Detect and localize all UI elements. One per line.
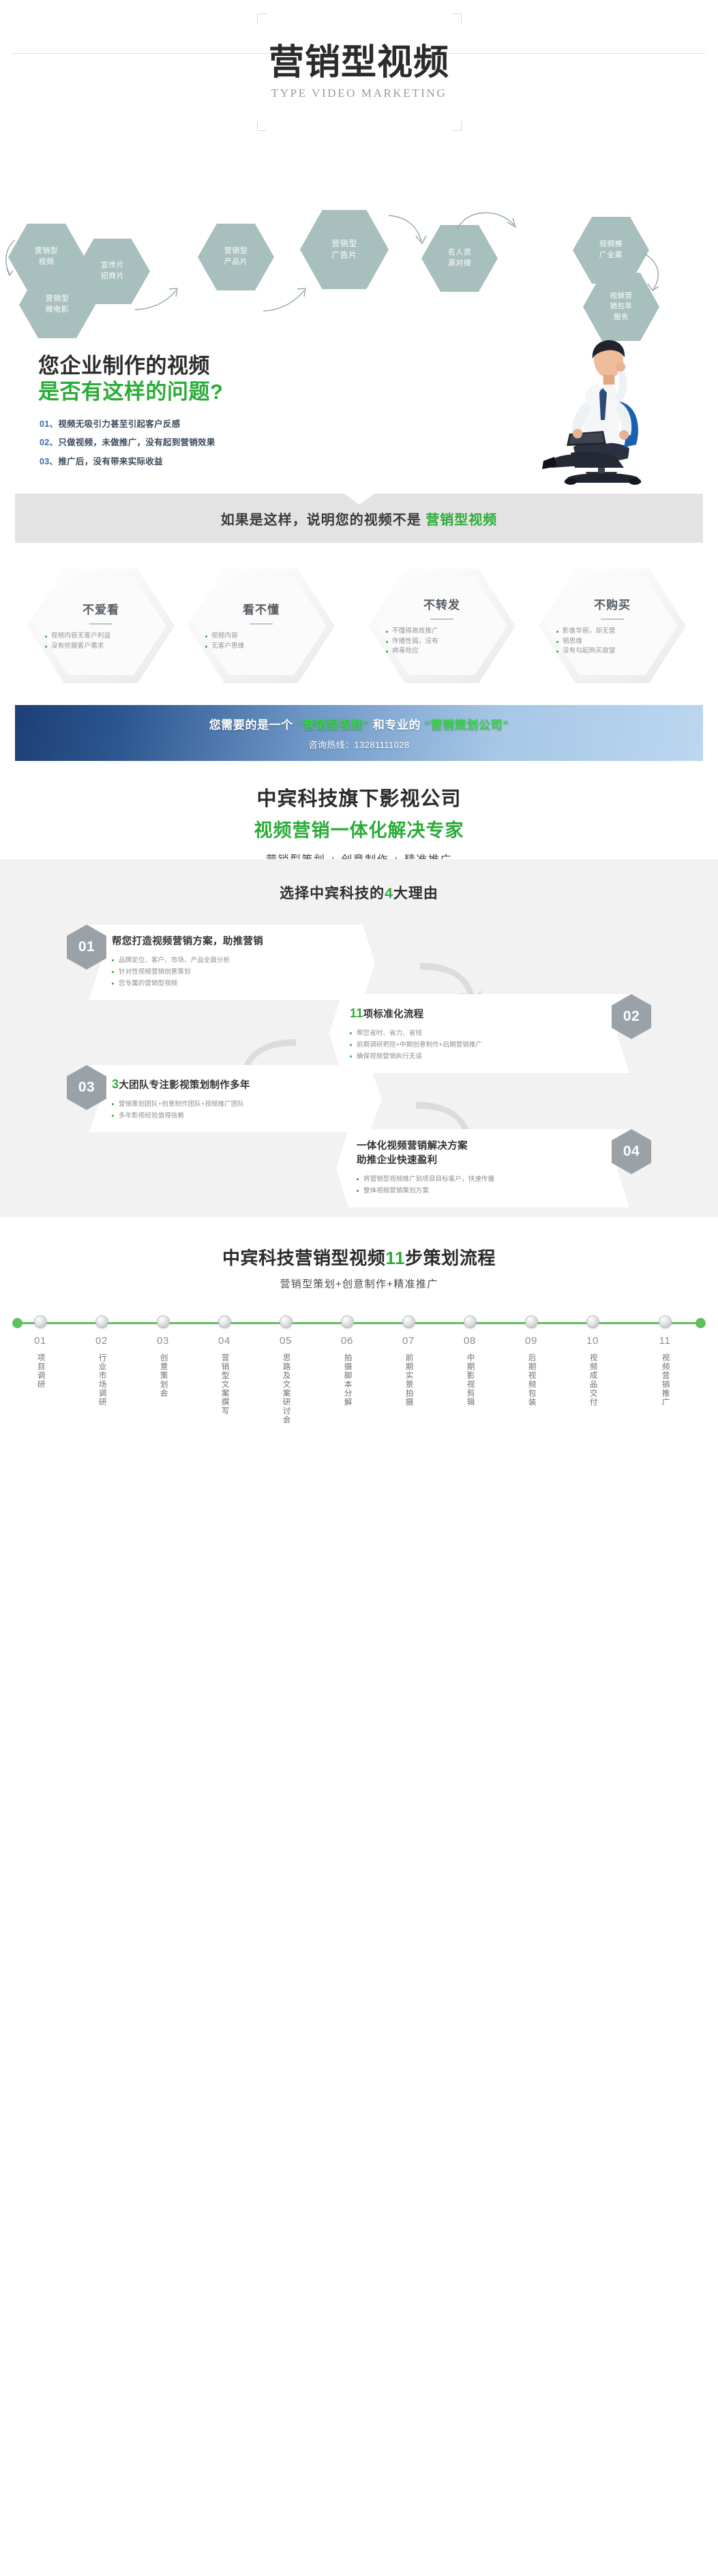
reason-title-big: 11 [350, 1006, 363, 1020]
hex-label-line2: 源对接 [448, 258, 472, 269]
reason-card-title: 帮您打造视频营销方案，助推营销 [112, 935, 360, 949]
reason-bullet: 您专属的营销型视频 [112, 978, 360, 989]
hero-rule-right [448, 53, 706, 54]
ribbon-bar: 如果是这样，说明您的视频不是 营销型视频 [15, 494, 703, 543]
timeline-step[interactable]: 02 行业市场调研 [76, 1314, 127, 1410]
problem-item-number: 02、 [40, 438, 58, 447]
timeline-step-label: 视频营销推广 [659, 1353, 670, 1407]
timeline-step-label: 后期视频包装 [525, 1353, 537, 1407]
timeline-step-number: 09 [506, 1335, 556, 1347]
problem-card-title: 不转发 [423, 595, 460, 612]
service-hex-grid: 营销型 视频 营销型 微电影 宣传片 招商片 营销型 产品片 营销型 [0, 170, 718, 341]
timeline-step-number: 06 [322, 1335, 372, 1347]
reason-bullet: 针对性视频营销创意策划 [112, 966, 360, 978]
problem-card-bullet: 不懂得高效推广 [386, 627, 498, 637]
problem-card-dont-understand[interactable]: 看不懂 视频内容 无客户思维 [188, 569, 335, 683]
hex-label-line1: 营销型 [35, 246, 59, 257]
problem-item-text: 只做视频，未做推广，没有起到营销效果 [58, 438, 215, 447]
grey-ribbon-section: 如果是这样，说明您的视频不是 营销型视频 [0, 477, 718, 559]
reason-number-text: 01 [78, 939, 95, 955]
problem-card-bullet-cont: 病毒效应 [386, 646, 498, 657]
hero-rule-left [12, 53, 270, 54]
reason-bullet: 整体视频营销策划方案 [357, 1185, 606, 1197]
hex-label-line1: 营销型 [331, 238, 357, 250]
corner-bracket-icon [452, 14, 462, 23]
hero-title-box: 营销型视频 TYPE VIDEO MARKETING [257, 14, 462, 131]
reasons-body: 01 帮您打造视频营销方案，助推营销 品牌定位、客户、市场、产品全面分析 针对性… [0, 920, 718, 1190]
timeline-title-a: 中宾科技营销型视频 [222, 1248, 385, 1268]
problem-card-dont-share[interactable]: 不转发 不懂得高效推广 传播性弱，没有 病毒效应 [368, 569, 515, 683]
corner-bracket-icon [257, 121, 267, 131]
timeline-step-label: 营销型文案撰写 [218, 1353, 230, 1416]
problem-card-bullet: 没有挖掘客户需求 [45, 642, 157, 652]
timeline-node-icon [218, 1315, 231, 1328]
problem-card-dont-watch[interactable]: 不爱看 视频内容无客户利益 没有挖掘客户需求 [27, 569, 175, 683]
reason-title-plain: 帮您打造视频营销方案，助推营销 [112, 936, 263, 947]
problem-card-title: 不购买 [594, 595, 631, 612]
hex-label-line2: 产品片 [224, 257, 248, 268]
corner-bracket-icon [257, 14, 267, 23]
reason-number-text: 02 [623, 1008, 640, 1025]
problem-card-bullet: 视频内容 [205, 631, 317, 642]
hex-label-line2: 视频 [35, 257, 59, 268]
cta-hotline[interactable]: 咨询热线：13281111028 [308, 738, 409, 751]
hex-label-line1: 宣传片 [101, 260, 125, 271]
timeline-step[interactable]: 07 前期实景拍摄 [383, 1314, 434, 1410]
company-intro-section: 中宾科技旗下影视公司 视频营销一体化解决专家 营销型策划 + 创意制作 + 精准… [0, 770, 718, 859]
reason-bullet: 营销策划团队+创意制作团队+视频推广团队 [112, 1098, 367, 1110]
reason-bullet: 多年影视经验值得信赖 [112, 1110, 367, 1122]
hex-label-line1: 营销型 [46, 294, 70, 305]
ribbon-notch-icon [344, 494, 374, 505]
reason-card-title: 3大团队专注影视策划制作多年 [112, 1075, 367, 1093]
cta-banner-section: 您需要的是一个 “营销型视频” 和专业的 “营销策划公司” 咨询热线：13281… [0, 695, 718, 770]
problem-card-bullet: 影像华丽，却无营 [556, 627, 668, 637]
reasons-heading-number: 4 [385, 886, 393, 901]
corner-bracket-icon [452, 121, 462, 131]
timeline-node-icon [341, 1315, 354, 1328]
problem-card-title: 不爱看 [83, 600, 119, 617]
reason-number-text: 03 [78, 1079, 95, 1096]
reason-bullet: 帮您省时、省力、省钱 [350, 1028, 606, 1039]
hex-label-line1: 名人资 [448, 248, 472, 258]
cta-text-b: 和专业的 [369, 719, 424, 732]
card-divider [250, 623, 273, 625]
timeline-title: 中宾科技营销型视频11步策划流程 [0, 1244, 718, 1270]
timeline-step-number: 08 [445, 1335, 495, 1347]
ribbon-text: 如果是这样，说明您的视频不是 营销型视频 [221, 509, 498, 528]
reason-bullet: 品牌定位、客户、市场、产品全面分析 [112, 955, 360, 966]
timeline-step[interactable]: 03 创意策划会 [138, 1314, 188, 1401]
connector-arrow-icon [134, 286, 183, 314]
timeline-node-icon [464, 1315, 477, 1328]
reasons-heading: 选择中宾科技的4大理由 [0, 882, 718, 903]
timeline-step-number: 02 [76, 1335, 127, 1347]
businessman-illustration [483, 338, 695, 485]
reasons-section: 选择中宾科技的4大理由 01 [0, 859, 718, 1217]
hex-label-line2: 微电影 [46, 305, 70, 316]
card-divider [430, 618, 453, 620]
timeline-node-icon [95, 1315, 108, 1328]
timeline-step-number: 01 [15, 1335, 65, 1347]
reason-card-02[interactable]: 11项标准化流程 帮您省时、省力、省钱 前期调研把控+中期创意制作+后期营销推广… [329, 994, 629, 1073]
problem-intro-section: 您企业制作的视频 是否有这样的问题? 01、视频无吸引力甚至引起客户反感 02、… [0, 341, 718, 477]
timeline-section: 中宾科技营销型视频11步策划流程 营销型策划+创意制作+精准推广 01 项目调研… [0, 1217, 718, 1518]
timeline-node-icon [34, 1315, 47, 1328]
timeline-node-icon [402, 1315, 415, 1328]
timeline-step-label: 行业市场调研 [95, 1353, 107, 1407]
timeline-step[interactable]: 04 营销型文案撰写 [199, 1314, 250, 1419]
reason-card-01[interactable]: 帮您打造视频营销方案，助推营销 品牌定位、客户、市场、产品全面分析 针对性视频营… [89, 925, 375, 1000]
hero-title-cn: 营销型视频 [269, 44, 449, 82]
timeline-step-number: 10 [567, 1335, 618, 1347]
timeline-node-icon [659, 1315, 672, 1328]
reason-card-title: 11项标准化流程 [350, 1004, 606, 1022]
hex-label-line2: 广全案 [599, 250, 623, 261]
problem-card-title: 看不懂 [243, 600, 280, 617]
timeline-node-icon [525, 1315, 538, 1328]
reason-title-tail: 项标准化流程 [363, 1009, 424, 1020]
ribbon-prefix: 如果是这样，说明您的视频不是 [221, 513, 426, 528]
hero-title-en: TYPE VIDEO MARKETING [271, 87, 447, 100]
ribbon-highlight: 营销型视频 [425, 513, 497, 528]
cta-banner: 您需要的是一个 “营销型视频” 和专业的 “营销策划公司” 咨询热线：13281… [15, 705, 703, 761]
timeline-track: 01 项目调研 02 行业市场调研 03 创意策划会 04 营销型文案撰写 05 [0, 1314, 718, 1484]
reason-bullet: 确保视频营销执行无误 [350, 1051, 606, 1062]
hex-product-film[interactable]: 营销型 产品片 [198, 224, 274, 290]
reason-title-plain: 一体化视频营销解决方案 [357, 1141, 468, 1152]
timeline-step[interactable]: 10 视频成品交付 [567, 1314, 618, 1410]
reason-card-04[interactable]: 一体化视频营销解决方案 助推企业快速盈利 将营销型视频推广到项目目标客户，快速传… [336, 1129, 629, 1208]
timeline-step[interactable]: 06 拍摄脚本分解 [322, 1314, 372, 1410]
hero-section: 营销型视频 TYPE VIDEO MARKETING [0, 0, 718, 170]
reason-bullets: 营销策划团队+创意制作团队+视频推广团队 多年影视经验值得信赖 [112, 1098, 367, 1122]
timeline-title-number: 11 [385, 1248, 405, 1268]
problem-card-bullet: 无客户思维 [205, 642, 317, 652]
problem-card-bullet: 视频内容无客户利益 [45, 631, 157, 642]
reason-title-big: 3 [112, 1077, 119, 1091]
timeline-step-number: 03 [138, 1335, 188, 1347]
timeline-step-number: 07 [383, 1335, 434, 1347]
reason-bullets: 将营销型视频推广到项目目标客户，快速传播 整体视频营销策划方案 [357, 1173, 606, 1197]
hex-label-line2: 销包年 [610, 301, 633, 312]
timeline-title-b: 步策划流程 [405, 1248, 496, 1268]
hex-label-line2: 广告片 [331, 250, 357, 261]
timeline-node-icon [280, 1315, 293, 1328]
reason-bullet: 将营销型视频推广到项目目标客户，快速传播 [357, 1173, 606, 1185]
cta-highlight-2: “营销策划公司” [424, 719, 509, 732]
reason-bullets: 帮您省时、省力、省钱 前期调研把控+中期创意制作+后期营销推广 确保视频营销执行… [350, 1028, 606, 1062]
cta-text-a: 您需要的是一个 [209, 719, 297, 732]
problem-item-number: 01、 [40, 419, 58, 429]
hex-label-line1: 视频营 [610, 291, 633, 301]
timeline-node-icon [157, 1315, 170, 1328]
timeline-step-label: 思路及文案研讨会 [280, 1353, 291, 1424]
problem-card-bullet: 传播性弱，没有 [386, 637, 498, 647]
hex-label-line1: 视频推 [599, 239, 623, 250]
timeline-step-number: 05 [260, 1335, 311, 1347]
timeline-step[interactable]: 11 视频营销推广 [640, 1314, 690, 1410]
timeline-step-label: 中期影视剪辑 [464, 1353, 475, 1407]
connector-arrow-icon [262, 286, 311, 315]
company-title-sub: 视频营销一体化解决专家 [0, 815, 718, 842]
timeline-step-number: 11 [640, 1335, 690, 1347]
problem-item-text: 视频无吸引力甚至引起客户反感 [58, 419, 180, 429]
reason-number-text: 04 [623, 1143, 640, 1160]
card-divider [601, 618, 624, 620]
reasons-heading-a: 选择中宾科技的 [280, 886, 385, 901]
timeline-step[interactable]: 08 中期影视剪辑 [445, 1314, 495, 1410]
cta-banner-line1: 您需要的是一个 “营销型视频” 和专业的 “营销策划公司” [209, 715, 509, 732]
reason-card-title: 一体化视频营销解决方案 助推企业快速盈利 [357, 1139, 606, 1168]
timeline-step[interactable]: 05 思路及文案研讨会 [260, 1314, 311, 1428]
timeline-subtitle: 营销型策划+创意制作+精准推广 [0, 1276, 718, 1291]
hex-label-line1: 营销型 [224, 246, 248, 257]
card-divider [89, 623, 113, 625]
problem-item-number: 03、 [40, 457, 58, 466]
timeline-step-label: 拍摄脚本分解 [341, 1353, 353, 1407]
landing-page: 营销型视频 TYPE VIDEO MARKETING 营销型 视频 营销型 微电… [0, 0, 718, 1518]
hex-label-line3: 服务 [610, 312, 633, 323]
problem-cards-section: 不爱看 视频内容无客户利益 没有挖掘客户需求 看不懂 视频内容 无客户思维 不转… [0, 559, 718, 695]
problem-card-dont-buy[interactable]: 不购买 影像华丽，却无营 销思维 没有勾起购买欲望 [539, 569, 686, 683]
problem-card-bullet-cont: 销思维 [556, 637, 668, 647]
timeline-step-label: 视频成品交付 [586, 1353, 598, 1407]
problem-item-text: 推广后，没有带来实际收益 [58, 457, 163, 466]
timeline-step[interactable]: 09 后期视频包装 [506, 1314, 556, 1410]
reason-title-tail: 助推企业快速盈利 [357, 1155, 437, 1166]
timeline-cap-right [695, 1318, 706, 1328]
cta-highlight-1: “营销型视频” [297, 719, 369, 732]
reasons-heading-b: 大理由 [393, 886, 438, 901]
company-title-main: 中宾科技旗下影视公司 [0, 783, 718, 811]
connector-arrow-icon [387, 213, 430, 248]
timeline-step[interactable]: 01 项目调研 [15, 1314, 65, 1392]
timeline-step-label: 前期实景拍摄 [402, 1353, 414, 1407]
reason-bullets: 品牌定位、客户、市场、产品全面分析 针对性视频营销创意策划 您专属的营销型视频 [112, 955, 360, 989]
timeline-node-icon [586, 1315, 599, 1328]
problem-card-bullet: 没有勾起购买欲望 [556, 646, 668, 657]
hex-label-line2: 招商片 [101, 271, 125, 282]
hex-ad-film[interactable]: 营销型 广告片 [300, 210, 389, 289]
reason-bullet: 前期调研把控+中期创意制作+后期营销推广 [350, 1039, 606, 1051]
reason-title-tail: 大团队专注影视策划制作多年 [119, 1080, 250, 1091]
timeline-step-number: 04 [199, 1335, 250, 1347]
timeline-step-label: 创意策划会 [157, 1353, 168, 1398]
timeline-step-label: 项目调研 [34, 1353, 46, 1389]
hex-celebrity[interactable]: 名人资 源对接 [421, 225, 498, 292]
reason-card-03[interactable]: 3大团队专注影视策划制作多年 营销策划团队+创意制作团队+视频推广团队 多年影视… [89, 1065, 382, 1133]
